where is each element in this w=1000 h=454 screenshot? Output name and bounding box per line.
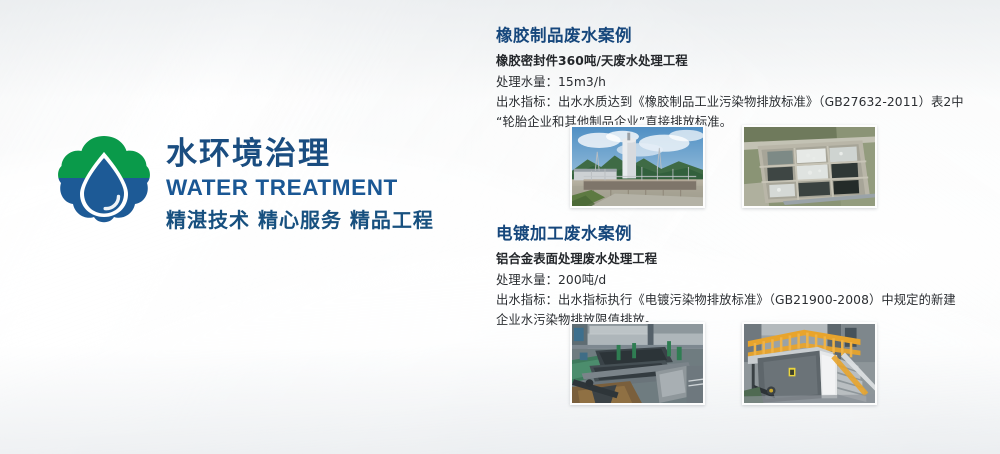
case-capacity-line: 处理水量：200吨/d xyxy=(496,271,966,291)
case-block-electroplating: 电镀加工废水案例 铝合金表面处理废水处理工程 处理水量：200吨/d 出水指标：… xyxy=(496,224,966,331)
case-block-rubber: 橡胶制品废水案例 橡胶密封件360吨/天废水处理工程 处理水量：15m3/h 出… xyxy=(496,26,966,133)
case-photos-electroplating xyxy=(570,322,877,405)
case-capacity-line: 处理水量：15m3/h xyxy=(496,73,966,93)
brand-name-en: WATER TREATMENT xyxy=(166,174,434,202)
equipment-platform-stairs-photo xyxy=(742,322,877,405)
case-photos-rubber xyxy=(570,125,877,208)
case-subtitle: 橡胶密封件360吨/天废水处理工程 xyxy=(496,53,966,70)
outdoor-treatment-plant-silo-photo xyxy=(570,125,705,208)
brand-logo-block: 水环境治理 WATER TREATMENT 精湛技术 精心服务 精品工程 xyxy=(56,132,434,233)
brand-slogan: 精湛技术 精心服务 精品工程 xyxy=(166,207,434,233)
indoor-electroplating-tanks-photo xyxy=(570,322,705,405)
case-subtitle: 铝合金表面处理废水处理工程 xyxy=(496,251,966,268)
banner-canvas: 水环境治理 WATER TREATMENT 精湛技术 精心服务 精品工程 橡胶制… xyxy=(0,0,1000,454)
water-drop-flower-logo-icon xyxy=(56,132,152,232)
brand-name-cn: 水环境治理 xyxy=(166,138,434,171)
aerial-treatment-basins-photo xyxy=(742,125,877,208)
brand-logo-text: 水环境治理 WATER TREATMENT 精湛技术 精心服务 精品工程 xyxy=(166,132,434,233)
case-title: 橡胶制品废水案例 xyxy=(496,26,966,47)
case-title: 电镀加工废水案例 xyxy=(496,224,966,245)
